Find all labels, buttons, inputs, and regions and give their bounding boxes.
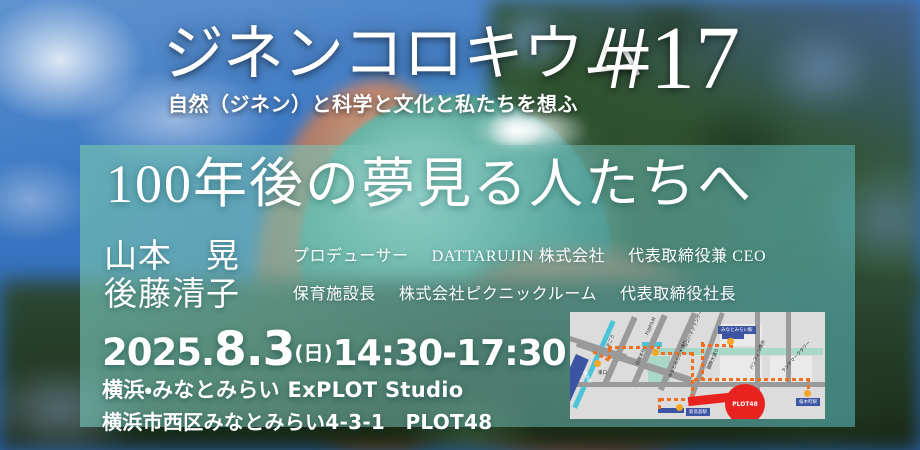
map-route: [608, 348, 611, 362]
speaker-row: 後藤清子 保育施設長 株式会社ピクニックルーム 代表取締役社長: [104, 267, 736, 315]
event-year: 2025.: [102, 331, 214, 374]
event-dayofweek: (日): [294, 341, 332, 365]
info-panel: 100年後の夢見る人たちへ 山本 晃 プロデューサー DATTARUJIN 株式…: [80, 145, 855, 427]
map-route: [694, 378, 809, 381]
map-waypoint: [594, 360, 601, 367]
series-subtitle: 自然（ジネン）と科学と文化と私たちを想ふ: [168, 88, 578, 117]
map-road: [570, 382, 825, 387]
map-waypoint: [804, 390, 811, 397]
title-block: ジネンコロキウム #17 自然（ジネン）と科学と文化と私たちを想ふ: [0, 0, 920, 135]
map-waypoint: [676, 404, 683, 411]
map-route: [701, 342, 704, 380]
map-route: [658, 398, 661, 410]
speaker-role: 保育施設長: [293, 286, 376, 303]
venue-address: 横浜市西区みなとみらい4-3-1 PLOT48: [102, 406, 492, 435]
map-route: [608, 346, 660, 349]
event-day: 8.3: [214, 322, 294, 377]
map-label-sakuragicho: 桜木町駅: [796, 398, 820, 406]
speaker-role: プロデューサー: [293, 248, 409, 265]
series-title: ジネンコロキウム: [163, 24, 643, 85]
map-label-minatomirai: みなとみらい駅: [718, 326, 756, 334]
map-marker-plot48[interactable]: PLOT48: [725, 384, 765, 419]
speaker-company: 株式会社ピクニックルーム: [399, 286, 597, 303]
event-datetime: 2025.8.3(日)14:30-17:30: [102, 322, 566, 377]
map-waypoint: [652, 349, 659, 356]
map-waypoint: [727, 338, 734, 345]
issue-number: #17: [605, 14, 740, 104]
map-label-higashiguchi: 東口: [598, 370, 607, 376]
event-venue: 横浜・みなとみらい ExPLOT Studio 横浜市西区みなとみらい4-3-1…: [102, 374, 492, 435]
speaker-position: 代表取締役兼 CEO: [628, 248, 766, 265]
map-label-shintakashima: 新高島駅: [686, 408, 710, 416]
speaker-position: 代表取締役社長: [620, 286, 736, 303]
venue-name: 横浜・みなとみらい ExPLOT Studio: [102, 374, 492, 404]
speaker-name: 後藤清子: [104, 277, 240, 313]
event-headline: 100年後の夢見る人たちへ: [106, 155, 753, 213]
event-poster: ジネンコロキウム #17 自然（ジネン）と科学と文化と私たちを想ふ 100年後の…: [0, 0, 920, 450]
location-map[interactable]: PLOT48 みなとみらい駅 桜木町駅 新高島駅 横浜駅 東口 そごう 日産本社…: [570, 312, 825, 419]
map-route: [654, 352, 694, 355]
speaker-company: DATTARUJIN 株式会社: [432, 248, 606, 265]
event-time: 14:30-17:30: [333, 333, 566, 374]
map-route: [691, 352, 694, 400]
